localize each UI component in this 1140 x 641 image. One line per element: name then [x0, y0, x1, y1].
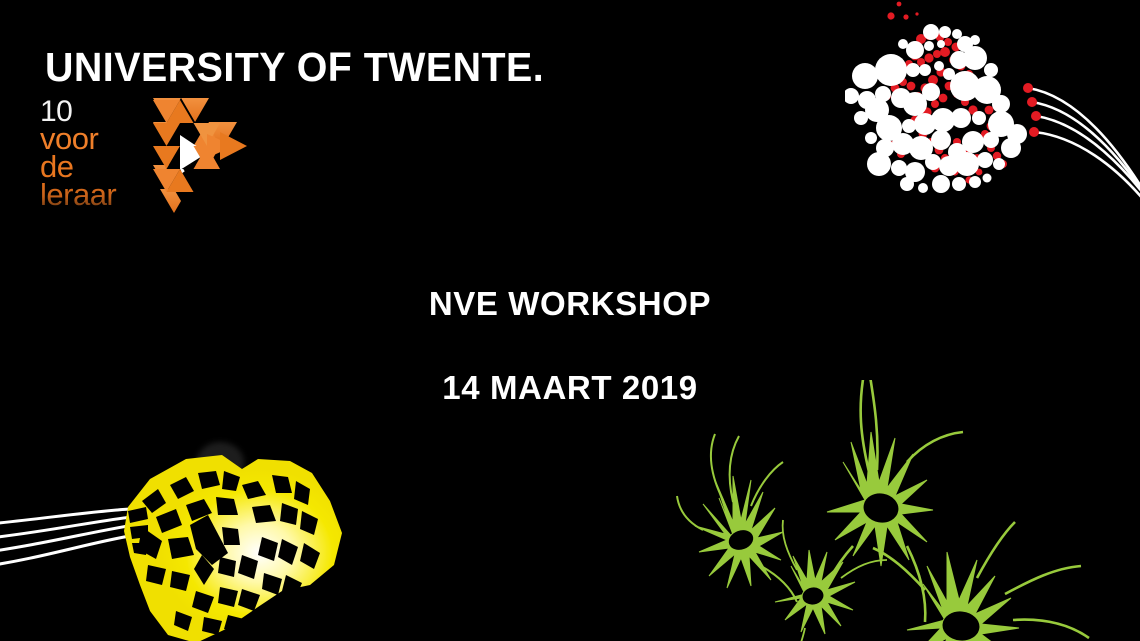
- tien-voor-de-leraar-logo: 10 voor de leraar: [40, 98, 265, 216]
- trailing-lines-top-right: [1020, 70, 1140, 200]
- dark-smudge: [196, 442, 244, 480]
- green-neuron-graphic: [675, 380, 1140, 641]
- presentation-slide: UNIVERSITY OF TWENTE. 10 voor de leraar: [0, 0, 1140, 641]
- programme-logo-line-4: leraar: [40, 181, 145, 209]
- play-triangle-icon: [153, 98, 265, 213]
- programme-logo-text: 10 voor de leraar: [40, 98, 145, 209]
- page-title: NVE WORKSHOP: [0, 285, 1140, 323]
- university-logo: UNIVERSITY OF TWENTE.: [45, 44, 475, 90]
- yellow-crystal-graphic: [0, 415, 390, 641]
- slide-title-block: NVE WORKSHOP 14 MAART 2019: [0, 285, 1140, 407]
- white-red-circle-cluster-graphic: [845, 0, 1140, 232]
- university-wordmark: UNIVERSITY OF TWENTE.: [45, 44, 458, 90]
- slide-date: 14 MAART 2019: [0, 369, 1140, 407]
